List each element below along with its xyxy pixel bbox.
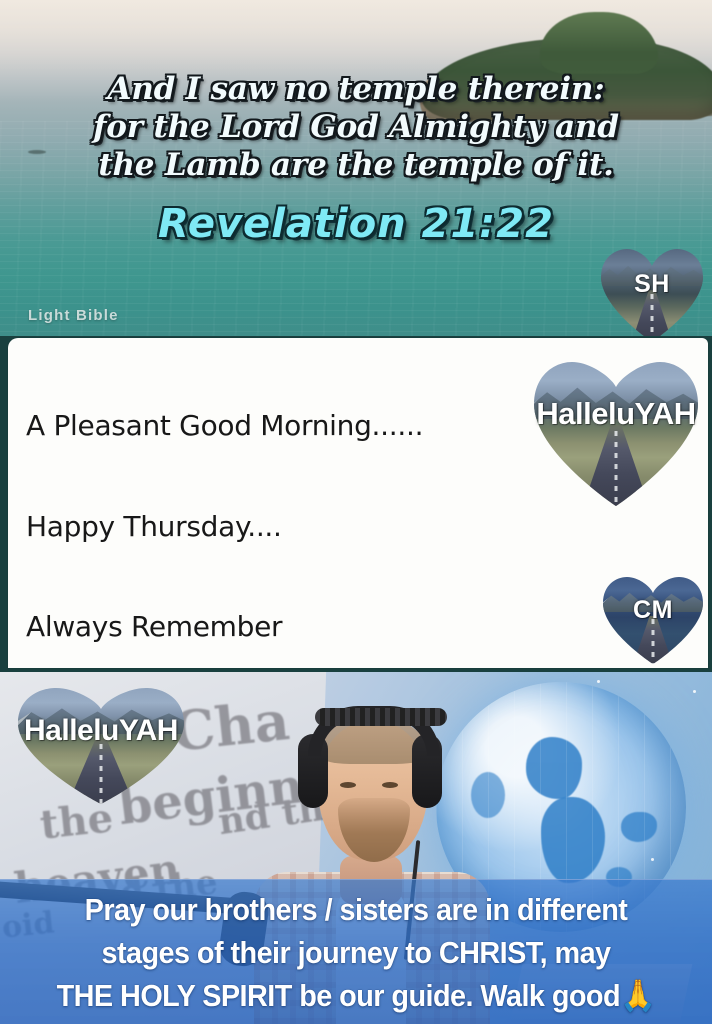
caption-bar: Pray our brothers / sisters are in diffe… <box>0 879 712 1024</box>
caption-line: Pray our brothers / sisters are in diffe… <box>34 888 678 931</box>
watermark-label: HalleluYAH <box>532 396 700 432</box>
verse-line-1: And I saw no temple therein: <box>16 70 696 108</box>
caption-text-block: Pray our brothers / sisters are in diffe… <box>34 888 678 1017</box>
message-line: Happy Thursday.... <box>26 510 702 544</box>
verse-line-2: for the Lord God Almighty and <box>16 108 696 146</box>
sparkle <box>651 858 654 861</box>
heart-watermark-icon: CM <box>602 576 704 666</box>
video-still-panel[interactable]: Cha beginni the nd th heaven d the oid <box>0 672 712 1024</box>
verse-reference: Revelation 21:22 <box>16 198 696 250</box>
heart-watermark-icon: SH <box>600 248 704 336</box>
heart-watermark-icon: HalleluYAH <box>532 360 700 508</box>
verse-text-block: And I saw no temple therein: for the Lor… <box>0 70 712 250</box>
morning-greeting-panel[interactable]: A Pleasant Good Morning...... Happy Thur… <box>0 336 712 672</box>
source-credit: Light Bible <box>28 307 119 324</box>
sparkle <box>693 690 696 693</box>
screenshot-root: And I saw no temple therein: for the Lor… <box>0 0 712 1024</box>
sparkle <box>597 680 600 683</box>
watermark-label: SH <box>600 270 704 299</box>
scripture-image-panel[interactable]: And I saw no temple therein: for the Lor… <box>0 0 712 336</box>
watermark-label: HalleluYAH <box>16 714 186 748</box>
message-line: Always Remember <box>26 610 702 644</box>
caption-line: stages of their journey to CHRIST, may <box>34 931 678 974</box>
watermark-label: CM <box>602 596 704 625</box>
caption-line: THE HOLY SPIRIT be our guide. Walk good🙏 <box>34 974 678 1017</box>
verse-line-3: the Lamb are the temple of it. <box>16 146 696 184</box>
message-card: A Pleasant Good Morning...... Happy Thur… <box>8 338 708 668</box>
heart-watermark-icon: HalleluYAH <box>16 686 186 806</box>
